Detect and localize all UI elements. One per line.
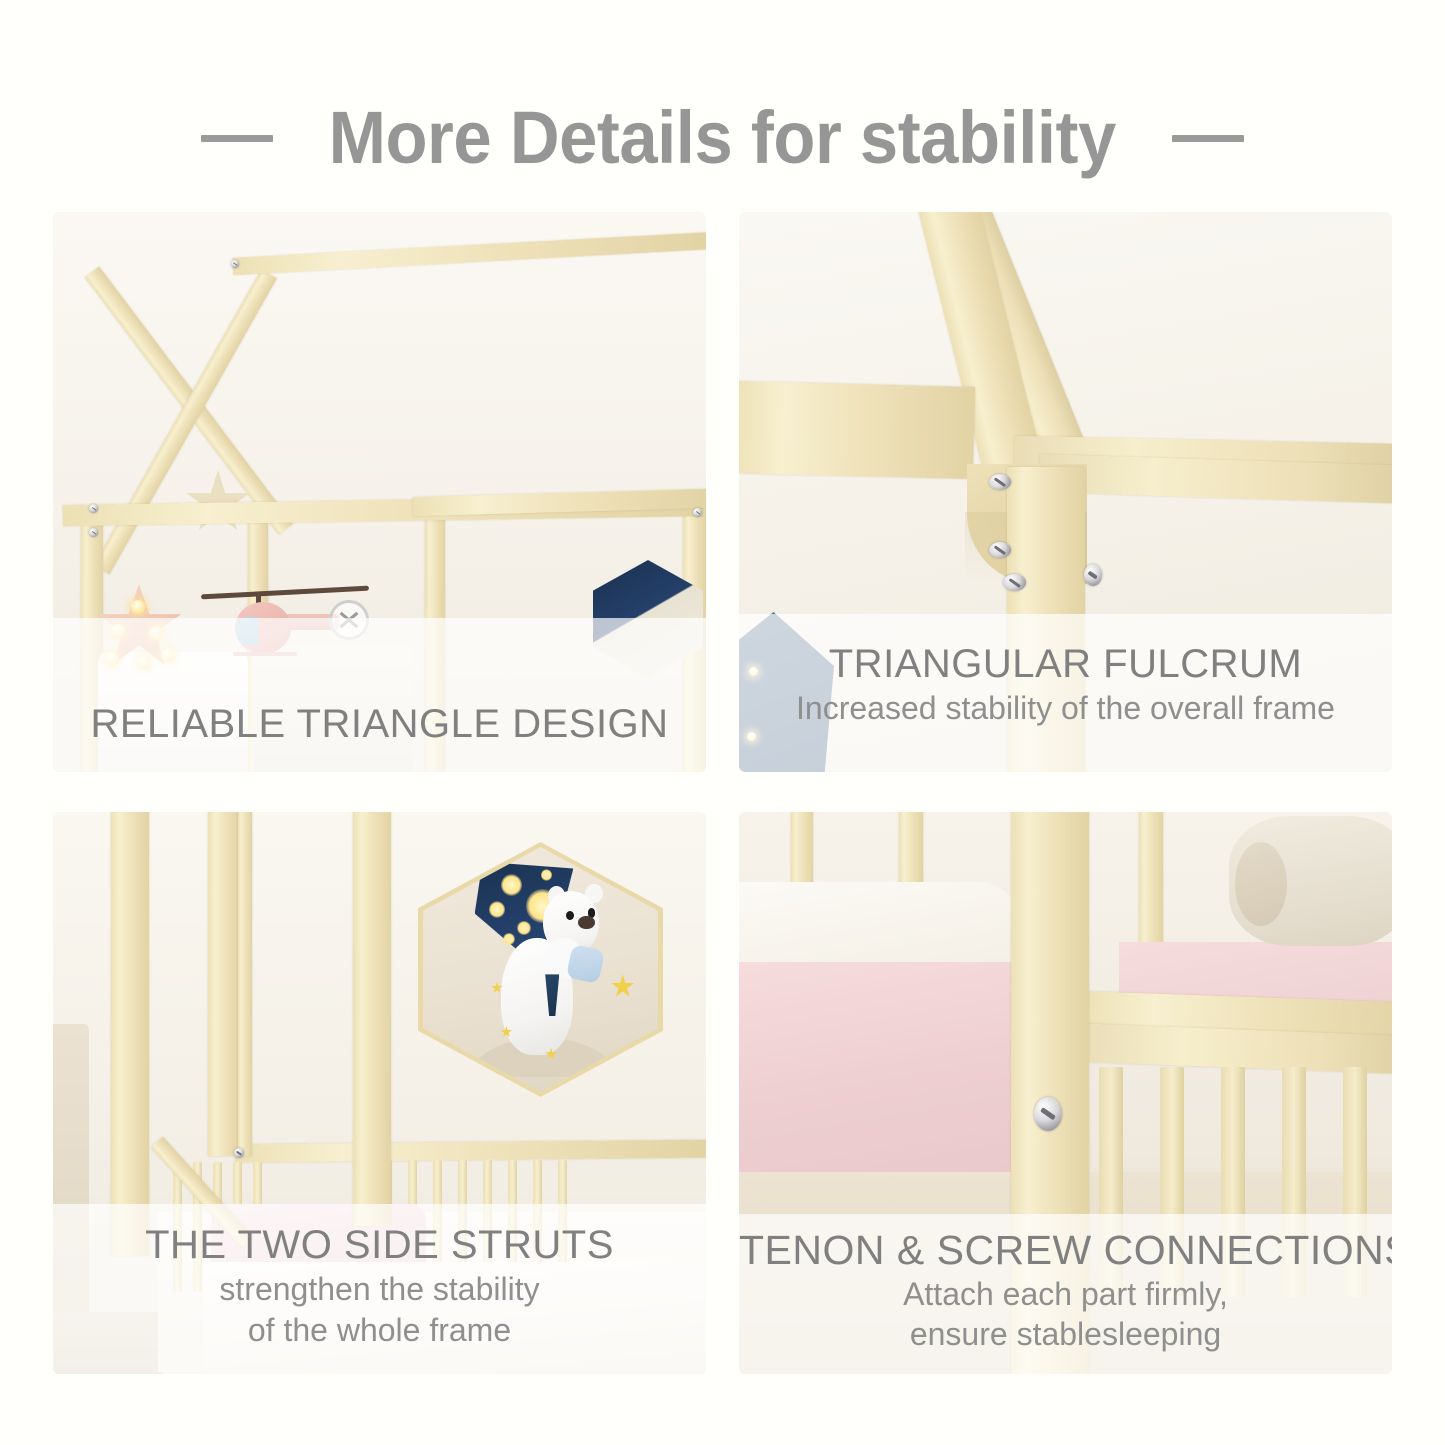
- panel-caption: THE TWO SIDE STRUTS strengthen the stabi…: [53, 1204, 706, 1374]
- screw-left-bottom: [89, 528, 98, 537]
- header-dash-right-icon: [1172, 135, 1244, 142]
- page-title: More Details for stability: [329, 101, 1116, 175]
- screw-strut-joint: [234, 1148, 244, 1158]
- bolster-cushion: [1229, 816, 1392, 946]
- caption-title: TENON & SCREW CONNECTIONS: [739, 1226, 1392, 1274]
- panel-reliable-triangle-design: RELIABLE TRIANGLE DESIGN: [53, 212, 706, 772]
- frame-post-middle: [208, 812, 240, 1156]
- screw-left-top: [89, 504, 98, 513]
- blanket-star: [517, 921, 531, 936]
- page-header: More Details for stability: [0, 82, 1445, 194]
- caption-title: RELIABLE TRIANGLE DESIGN: [53, 701, 706, 748]
- caption-subtitle-line: Attach each part firmly,: [739, 1274, 1392, 1314]
- feature-panel-grid: RELIABLE TRIANGLE DESIGN: [53, 212, 1392, 1374]
- artwork-canvas: [423, 847, 658, 1092]
- panel-tenon-screw-connections: TENON & SCREW CONNECTIONS Attach each pa…: [739, 812, 1392, 1374]
- caption-subtitle-line: Increased stability of the overall frame: [739, 688, 1392, 728]
- screw-post-center: [1034, 1097, 1062, 1131]
- panel-the-two-side-struts: THE TWO SIDE STRUTS strengthen the stabi…: [53, 812, 706, 1374]
- blanket-star: [503, 933, 515, 945]
- panel-caption: TRIANGULAR FULCRUM Increased stability o…: [739, 614, 1392, 772]
- panel-caption: TENON & SCREW CONNECTIONS Attach each pa…: [739, 1214, 1392, 1374]
- caption-subtitle-line: of the whole frame: [53, 1310, 706, 1350]
- pink-blanket-left: [739, 962, 1049, 1202]
- caption-title: THE TWO SIDE STRUTS: [53, 1222, 706, 1269]
- frame-post-left: [111, 812, 149, 1256]
- screw-bracket-lower: [1003, 574, 1026, 591]
- panel-caption: RELIABLE TRIANGLE DESIGN: [53, 618, 706, 772]
- caption-title: TRIANGULAR FULCRUM: [739, 641, 1392, 688]
- blanket-star: [501, 874, 522, 896]
- frame-post-middle-rear: [238, 812, 252, 1156]
- screw-bracket-upper: [989, 542, 1011, 558]
- star-lamp-bulb: [131, 600, 145, 614]
- horizontal-rail-left: [739, 381, 975, 479]
- bear-nose: [578, 916, 594, 929]
- artwork-star-icon: [611, 974, 635, 999]
- screw-ridge: [231, 260, 239, 268]
- frame-post-right: [353, 812, 391, 1226]
- caption-subtitle-line: strengthen the stability: [53, 1269, 706, 1309]
- infographic-page: More Details for stability: [0, 0, 1445, 1445]
- screw-upper: [989, 474, 1011, 490]
- panel-triangular-fulcrum: TRIANGULAR FULCRUM Increased stability o…: [739, 212, 1392, 772]
- screw-right-top: [693, 508, 702, 517]
- caption-subtitle-line: ensure stablesleeping: [739, 1314, 1392, 1354]
- header-dash-left-icon: [201, 135, 273, 142]
- background-post-right: [1139, 812, 1163, 962]
- hexagon-bear-artwork: [418, 842, 663, 1097]
- screw-post-side: [1084, 564, 1102, 586]
